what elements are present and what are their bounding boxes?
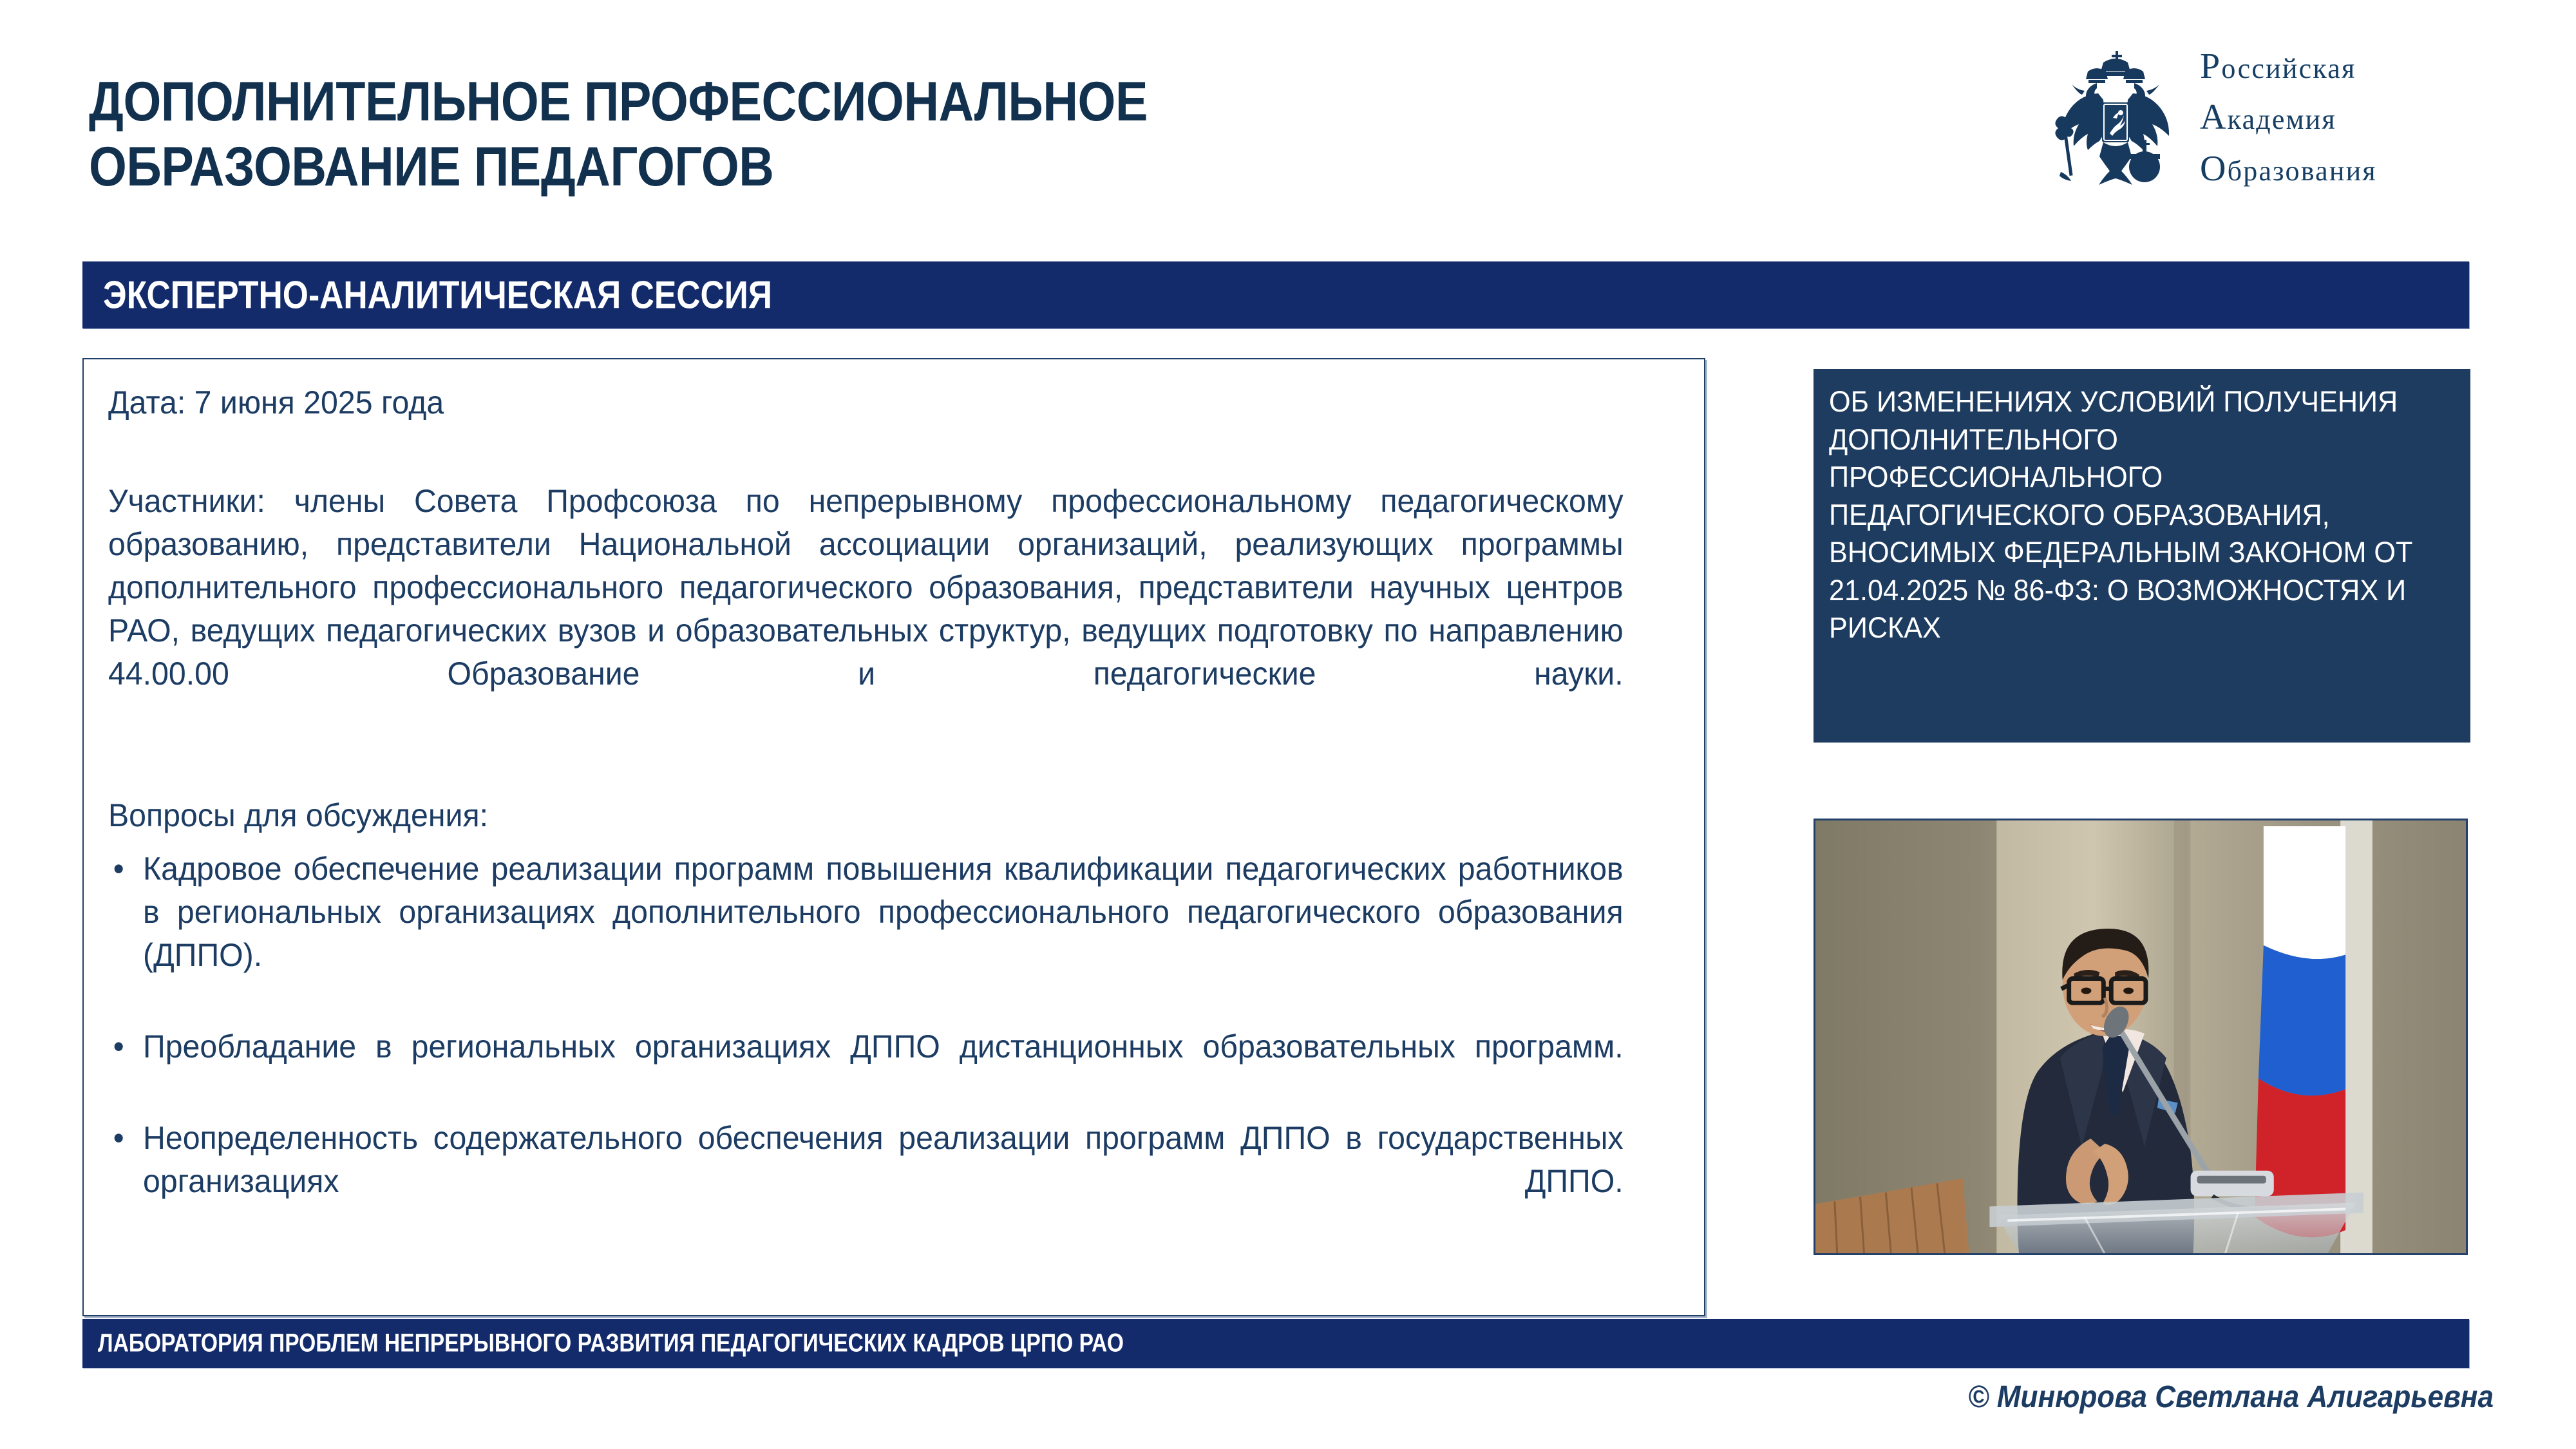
- discussion-questions-list: • Кадровое обеспечение реализации програ…: [108, 848, 1624, 1246]
- list-item-text: Преобладание в региональных организациях…: [143, 1028, 1624, 1108]
- participants-paragraph: Участники: члены Совета Профсоюза по неп…: [108, 480, 1624, 739]
- topic-callout-panel: ОБ ИЗМЕНЕНИЯХ УСЛОВИЙ ПОЛУЧЕНИЯ ДОПОЛНИТ…: [1814, 369, 2470, 743]
- logo-line-1: Российская: [2200, 41, 2377, 93]
- organization-logo: Российская Академия Образования: [2048, 37, 2499, 198]
- page-title-line-1: ДОПОЛНИТЕЛЬНОЕ ПРОФЕССИОНАЛЬНОЕ: [89, 70, 1619, 135]
- footer-bar-label: ЛАБОРАТОРИЯ ПРОБЛЕМ НЕПРЕРЫВНОГО РАЗВИТИ…: [98, 1329, 1124, 1358]
- logo-line-2: Академия: [2200, 92, 2377, 144]
- list-item: • Преобладание в региональных организаци…: [108, 1025, 1624, 1112]
- list-item: • Неопределенность содержательного обесп…: [108, 1117, 1624, 1246]
- page-title: ДОПОЛНИТЕЛЬНОЕ ПРОФЕССИОНАЛЬНОЕ ОБРАЗОВА…: [89, 70, 1619, 200]
- copyright-notice: © Минюрова Светлана Алигарьевна: [1968, 1379, 2494, 1415]
- list-item: • Кадровое обеспечение реализации програ…: [108, 848, 1624, 1020]
- russian-double-headed-eagle-emblem: [2048, 46, 2183, 191]
- logo-line-3: Образования: [2200, 144, 2377, 195]
- bullet-icon: •: [113, 848, 124, 891]
- questions-heading: Вопросы для обсуждения:: [108, 794, 1624, 837]
- date-line: Дата: 7 июня 2025 года: [108, 381, 1624, 424]
- bullet-icon: •: [113, 1025, 124, 1068]
- session-banner-label: ЭКСПЕРТНО-АНАЛИТИЧЕСКАЯ СЕССИЯ: [103, 273, 772, 317]
- list-item-text: Кадровое обеспечение реализации программ…: [143, 851, 1624, 1016]
- list-item-text: Неопределенность содержательного обеспеч…: [143, 1120, 1624, 1242]
- content-panel: Дата: 7 июня 2025 года Участники: члены …: [82, 358, 1705, 1316]
- bullet-icon: •: [113, 1117, 124, 1160]
- page-title-line-2: ОБРАЗОВАНИЕ ПЕДАГОГОВ: [89, 135, 1619, 200]
- logo-wordmark: Российская Академия Образования: [2200, 41, 2377, 195]
- footer-bar: ЛАБОРАТОРИЯ ПРОБЛЕМ НЕПРЕРЫВНОГО РАЗВИТИ…: [82, 1319, 2469, 1368]
- session-banner: ЭКСПЕРТНО-АНАЛИТИЧЕСКАЯ СЕССИЯ: [82, 261, 2469, 328]
- speaker-photo: [1814, 819, 2468, 1255]
- topic-callout-text: ОБ ИЗМЕНЕНИЯХ УСЛОВИЙ ПОЛУЧЕНИЯ ДОПОЛНИТ…: [1829, 383, 2429, 647]
